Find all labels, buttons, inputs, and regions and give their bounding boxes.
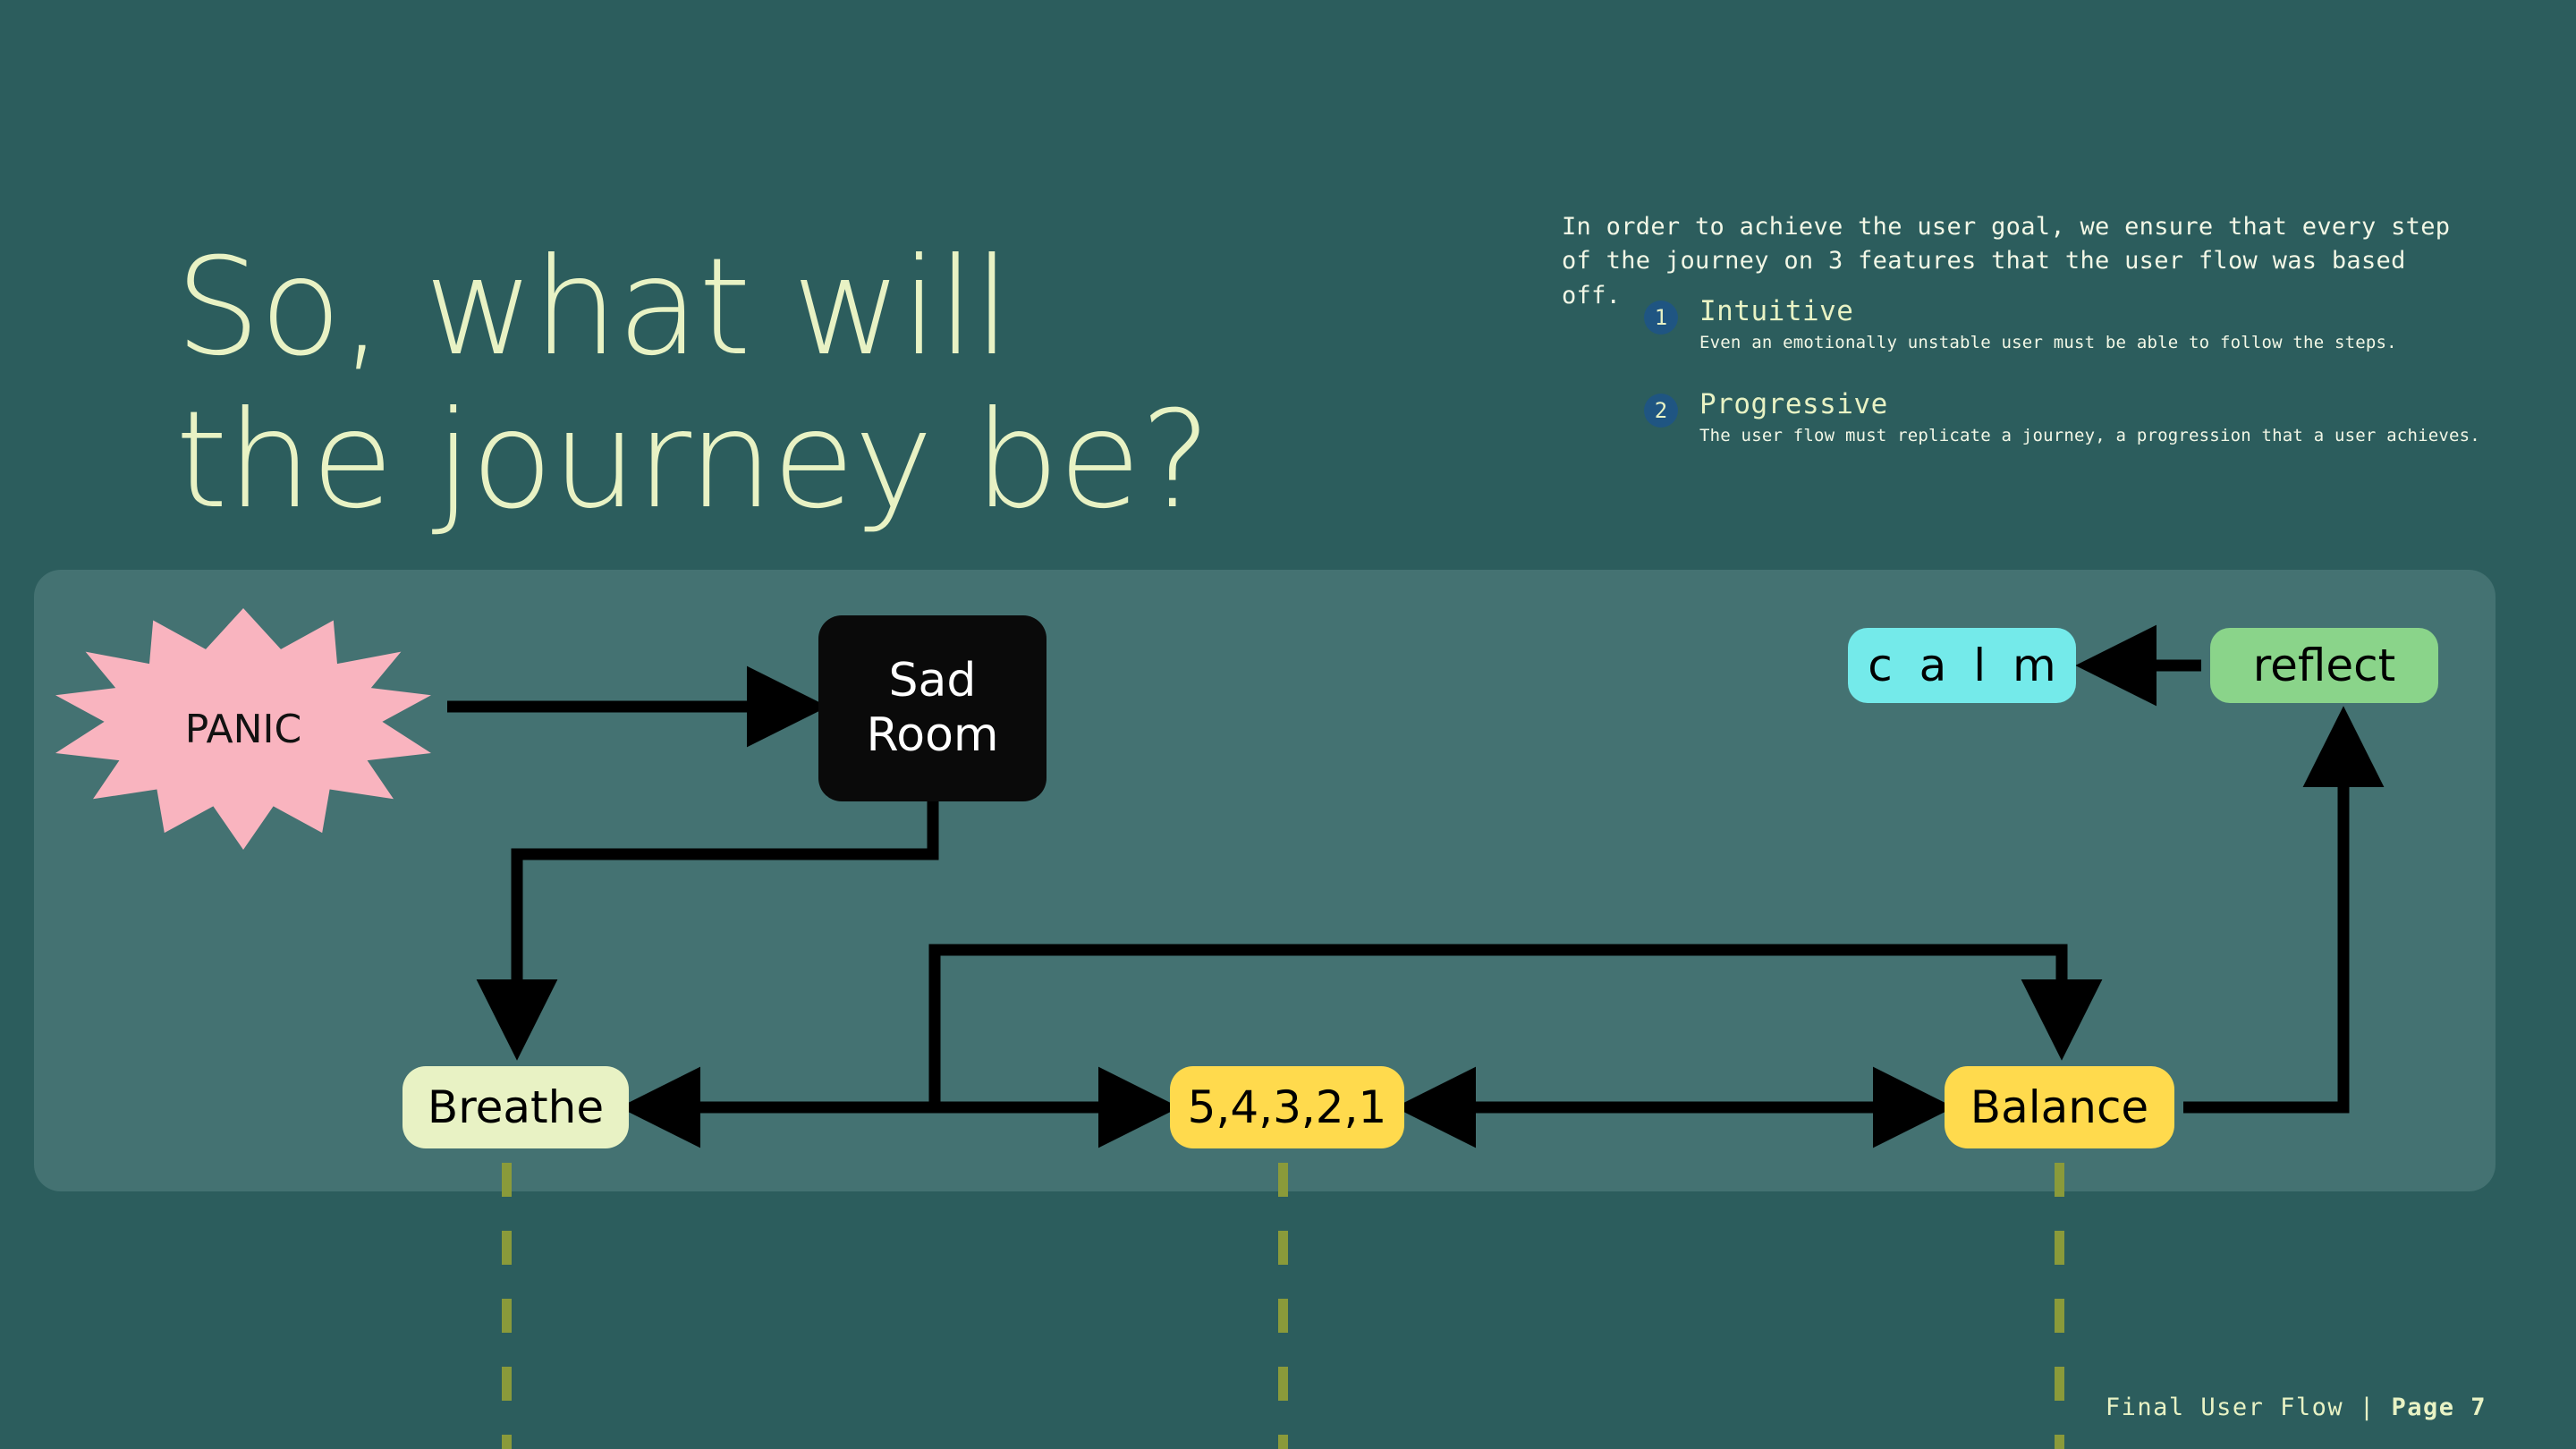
footer: Final User Flow | Page 7 <box>2106 1394 2487 1421</box>
flow-node-breathe[interactable]: Breathe <box>402 1066 629 1148</box>
page-title: So, what will the journey be? <box>175 232 1624 538</box>
feature-number-badge: 1 <box>1644 301 1678 335</box>
footer-label: Final User Flow | <box>2106 1394 2392 1421</box>
feature-number-badge: 2 <box>1644 394 1678 428</box>
stage-divider-countdown <box>1278 1163 1288 1449</box>
flow-node-countdown[interactable]: 5,4,3,2,1 <box>1170 1066 1404 1148</box>
flow-node-sad-room[interactable]: Sad Room <box>818 615 1046 801</box>
flow-node-calm[interactable]: c a l m <box>1848 628 2076 703</box>
stage-divider-balance <box>2055 1163 2064 1449</box>
stage-divider-breathe <box>502 1163 512 1449</box>
feature-title: Progressive <box>1699 388 1888 420</box>
footer-page-number: Page 7 <box>2391 1394 2487 1421</box>
feature-description: Even an emotionally unstable user must b… <box>1699 333 2397 352</box>
slide-canvas: So, what will the journey be? In order t… <box>0 0 2576 1449</box>
feature-title: Intuitive <box>1699 295 1853 327</box>
flow-node-reflect[interactable]: reflect <box>2210 628 2438 703</box>
flow-node-balance[interactable]: Balance <box>1945 1066 2174 1148</box>
feature-description: The user flow must replicate a journey, … <box>1699 426 2480 445</box>
intro-paragraph: In order to achieve the user goal, we en… <box>1562 210 2456 313</box>
